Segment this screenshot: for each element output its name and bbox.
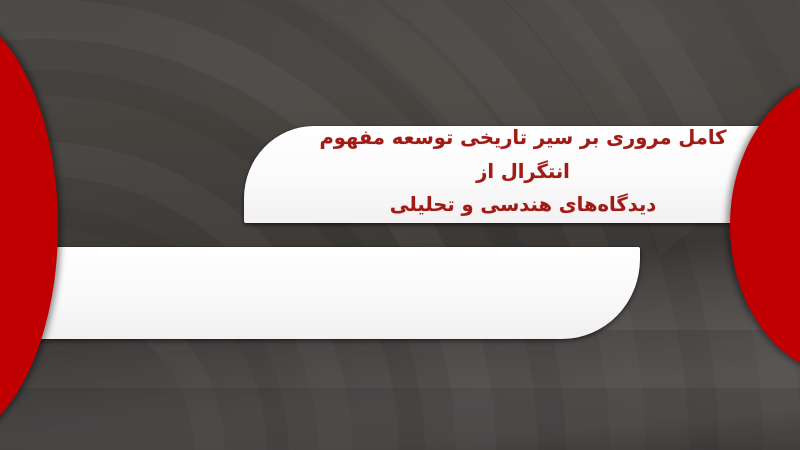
title-line-2: دیدگاه‌های هندسی و تحلیلی	[390, 193, 657, 216]
slide-title: کامل مروری بر سیر تاریخی توسعه مفهوم انت…	[290, 121, 756, 222]
content-placeholder[interactable]	[14, 247, 640, 339]
presentation-slide: کامل مروری بر سیر تاریخی توسعه مفهوم انت…	[0, 0, 800, 450]
title-line-1: کامل مروری بر سیر تاریخی توسعه مفهوم انت…	[319, 126, 726, 183]
title-placeholder[interactable]: کامل مروری بر سیر تاریخی توسعه مفهوم انت…	[244, 126, 800, 223]
background-arc-pattern	[0, 0, 800, 450]
